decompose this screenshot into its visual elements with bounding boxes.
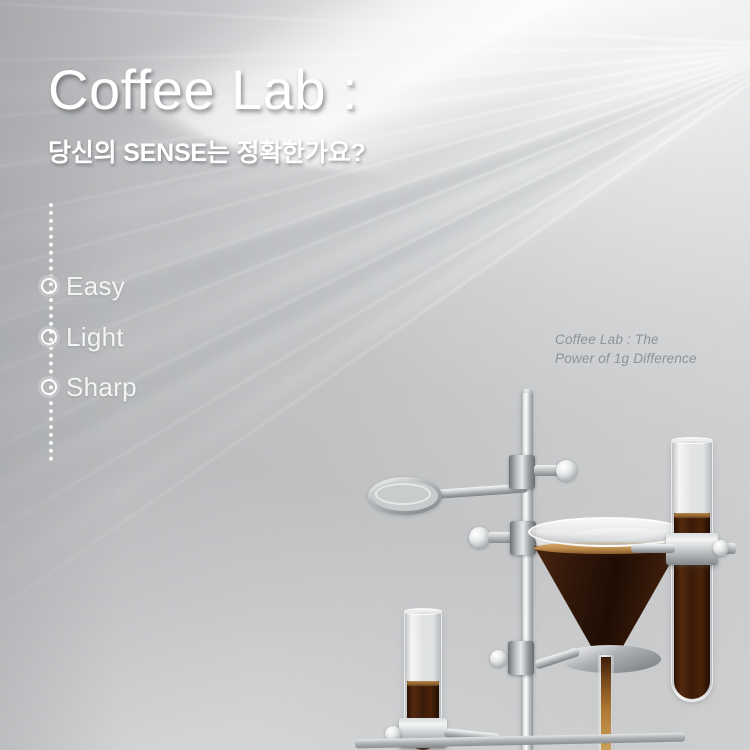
coffee-lab-poster: Coffee Lab : 당신의 SENSE는 정확한가요? Easy Ligh… bbox=[0, 0, 750, 750]
timeline-marker-light[interactable] bbox=[41, 329, 57, 345]
feature-label-easy[interactable]: Easy bbox=[66, 271, 125, 302]
timeline-marker-easy[interactable] bbox=[41, 278, 57, 294]
side-caption: Coffee Lab : The Power of 1g Difference bbox=[555, 330, 697, 368]
feature-timeline bbox=[47, 203, 55, 461]
side-caption-line-2: Power of 1g Difference bbox=[555, 349, 697, 368]
page-subtitle: 당신의 SENSE는 정확한가요? bbox=[48, 133, 366, 169]
timeline-marker-sharp[interactable] bbox=[41, 379, 57, 395]
side-caption-line-1: Coffee Lab : The bbox=[555, 330, 697, 349]
feature-label-light[interactable]: Light bbox=[66, 322, 124, 353]
feature-label-sharp[interactable]: Sharp bbox=[66, 372, 137, 403]
page-title: Coffee Lab : bbox=[48, 57, 358, 122]
